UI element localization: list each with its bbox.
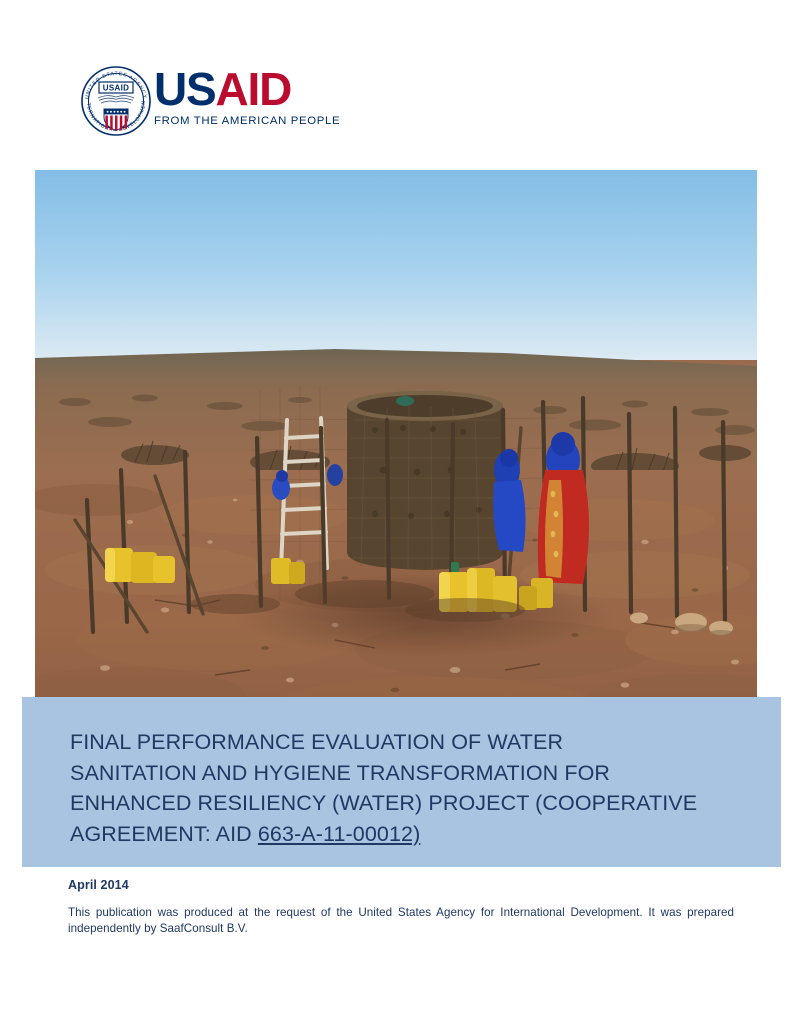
page-title: FINAL PERFORMANCE EVALUATION OF WATER SA…: [70, 727, 761, 849]
title-line-4: AGREEMENT: AID 663-A-11-00012): [70, 819, 761, 850]
usaid-wordmark-text: USAID: [154, 66, 374, 112]
usaid-wordmark: USAID FROM THE AMERICAN PEOPLE: [154, 66, 374, 127]
cover-page: UNITED STATES AGENCY INTERNATIONAL DEVEL…: [0, 0, 791, 1024]
disclaimer-text: This publication was produced at the req…: [68, 905, 734, 937]
title-line-4-prefix: AGREEMENT: AID: [70, 822, 258, 846]
title-line-2: SANITATION AND HYGIENE TRANSFORMATION FO…: [70, 758, 761, 789]
usaid-seal-icon: UNITED STATES AGENCY INTERNATIONAL DEVEL…: [78, 62, 154, 140]
wordmark-us: US: [154, 63, 216, 115]
usaid-logo: UNITED STATES AGENCY INTERNATIONAL DEVEL…: [78, 60, 378, 144]
title-line-1: FINAL PERFORMANCE EVALUATION OF WATER: [70, 727, 761, 758]
wordmark-aid: AID: [216, 63, 292, 115]
award-number: 663-A-11-00012): [258, 822, 420, 846]
footer-block: April 2014 This publication was produced…: [68, 878, 734, 937]
cover-photograph: [35, 170, 757, 725]
usaid-tagline: FROM THE AMERICAN PEOPLE: [154, 115, 374, 127]
svg-text:USAID: USAID: [103, 84, 129, 93]
title-banner: FINAL PERFORMANCE EVALUATION OF WATER SA…: [22, 697, 781, 867]
publication-date: April 2014: [68, 878, 734, 892]
title-line-3: ENHANCED RESILIENCY (WATER) PROJECT (COO…: [70, 788, 761, 819]
